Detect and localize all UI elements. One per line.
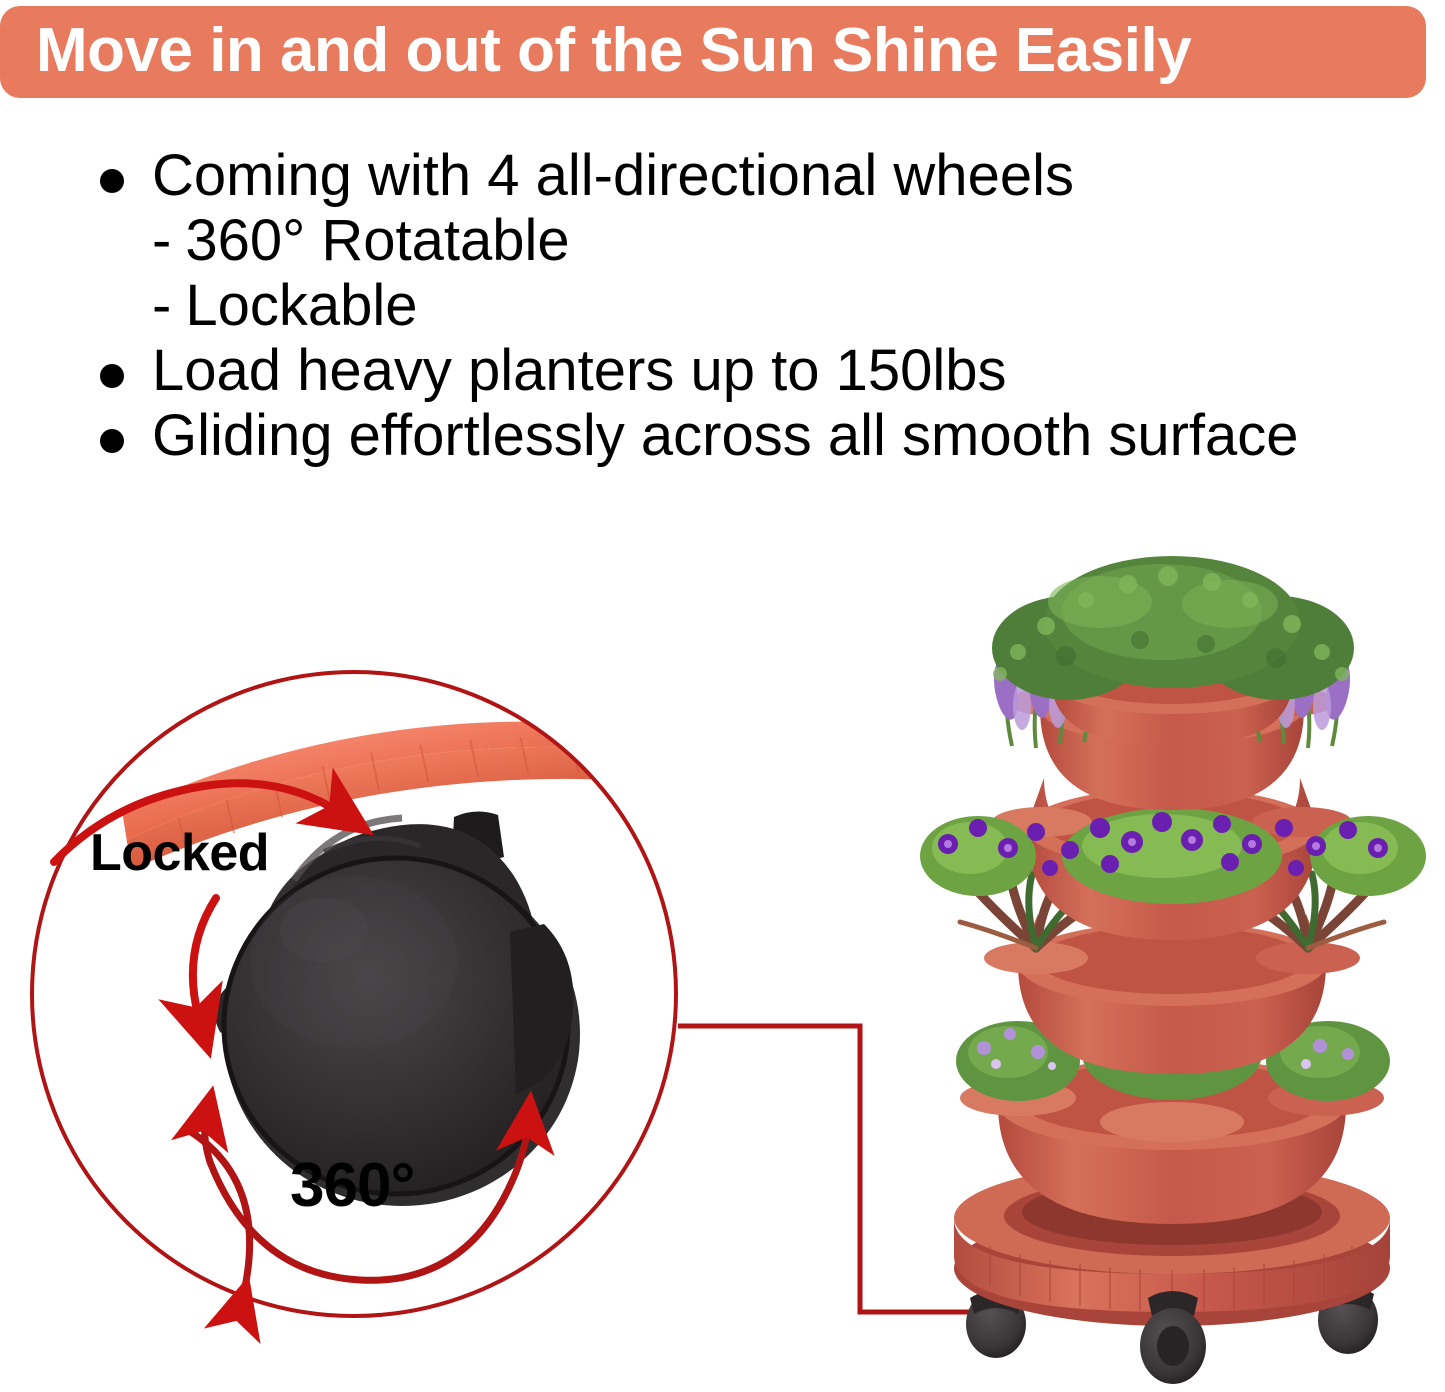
list-item-label: Load heavy planters up to 150lbs (152, 339, 1007, 404)
list-item-label: Gliding effortlessly across all smooth s… (152, 404, 1299, 469)
rotation-label: 360° (290, 1150, 414, 1221)
planter-tower-image (900, 556, 1445, 1392)
boxwood-plant (992, 556, 1354, 700)
list-item: Coming with 4 all-directional wheels (100, 144, 1430, 209)
list-item: Gliding effortlessly across all smooth s… (100, 404, 1430, 469)
bullet-icon (100, 429, 124, 453)
bullet-icon (100, 364, 124, 388)
rotation-arrowhead-left-icon (205, 1118, 210, 1162)
header-banner: Move in and out of the Sun Shine Easily (0, 6, 1426, 98)
list-item-label: 360° Rotatable (185, 209, 569, 274)
list-item: - Lockable (152, 274, 1430, 339)
list-item-label: Lockable (185, 274, 417, 339)
locked-arrow-down-icon (193, 898, 216, 1022)
pansy-plant (920, 808, 1426, 904)
list-item: - 360° Rotatable (152, 209, 1430, 274)
caddy-wheel-front (1140, 1291, 1206, 1384)
dash-icon: - (152, 274, 171, 339)
planter-illustration (900, 556, 1445, 1392)
dash-icon: - (152, 209, 171, 274)
feature-list: Coming with 4 all-directional wheels - 3… (100, 144, 1430, 469)
locked-label: Locked (90, 823, 269, 883)
list-item-label: Coming with 4 all-directional wheels (152, 144, 1074, 209)
page-title: Move in and out of the Sun Shine Easily (36, 20, 1191, 82)
bullet-icon (100, 169, 124, 193)
list-item: Load heavy planters up to 150lbs (100, 339, 1430, 404)
